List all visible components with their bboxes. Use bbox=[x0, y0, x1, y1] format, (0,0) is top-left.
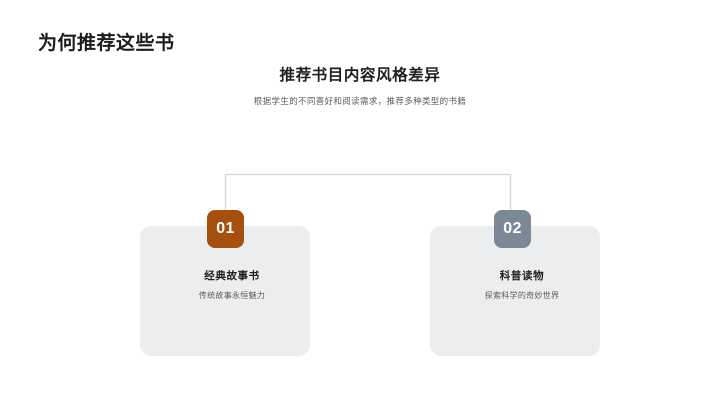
section-subheading: 根据学生的不同喜好和阅读需求，推荐多种类型的书籍 bbox=[0, 95, 720, 107]
section-heading: 推荐书目内容风格差异 bbox=[0, 66, 720, 86]
card-description: 传统故事永恒魅力 bbox=[154, 290, 310, 302]
card-description: 探索科学的奇妙世界 bbox=[444, 290, 600, 302]
connector-path bbox=[226, 175, 511, 212]
step-number-badge-02[interactable]: 02 bbox=[494, 210, 531, 248]
section-header: 推荐书目内容风格差异 根据学生的不同喜好和阅读需求，推荐多种类型的书籍 bbox=[0, 66, 720, 107]
connector-bracket bbox=[0, 0, 720, 404]
card-text-block: 科普读物 探索科学的奇妙世界 bbox=[430, 269, 600, 302]
slide-canvas: 为何推荐这些书 推荐书目内容风格差异 根据学生的不同喜好和阅读需求，推荐多种类型… bbox=[0, 0, 720, 404]
step-number-badge-01[interactable]: 01 bbox=[207, 210, 244, 248]
card-title: 科普读物 bbox=[444, 269, 600, 284]
card-text-block: 经典故事书 传统故事永恒魅力 bbox=[140, 269, 310, 302]
card-title: 经典故事书 bbox=[154, 269, 310, 284]
page-title: 为何推荐这些书 bbox=[38, 28, 175, 55]
